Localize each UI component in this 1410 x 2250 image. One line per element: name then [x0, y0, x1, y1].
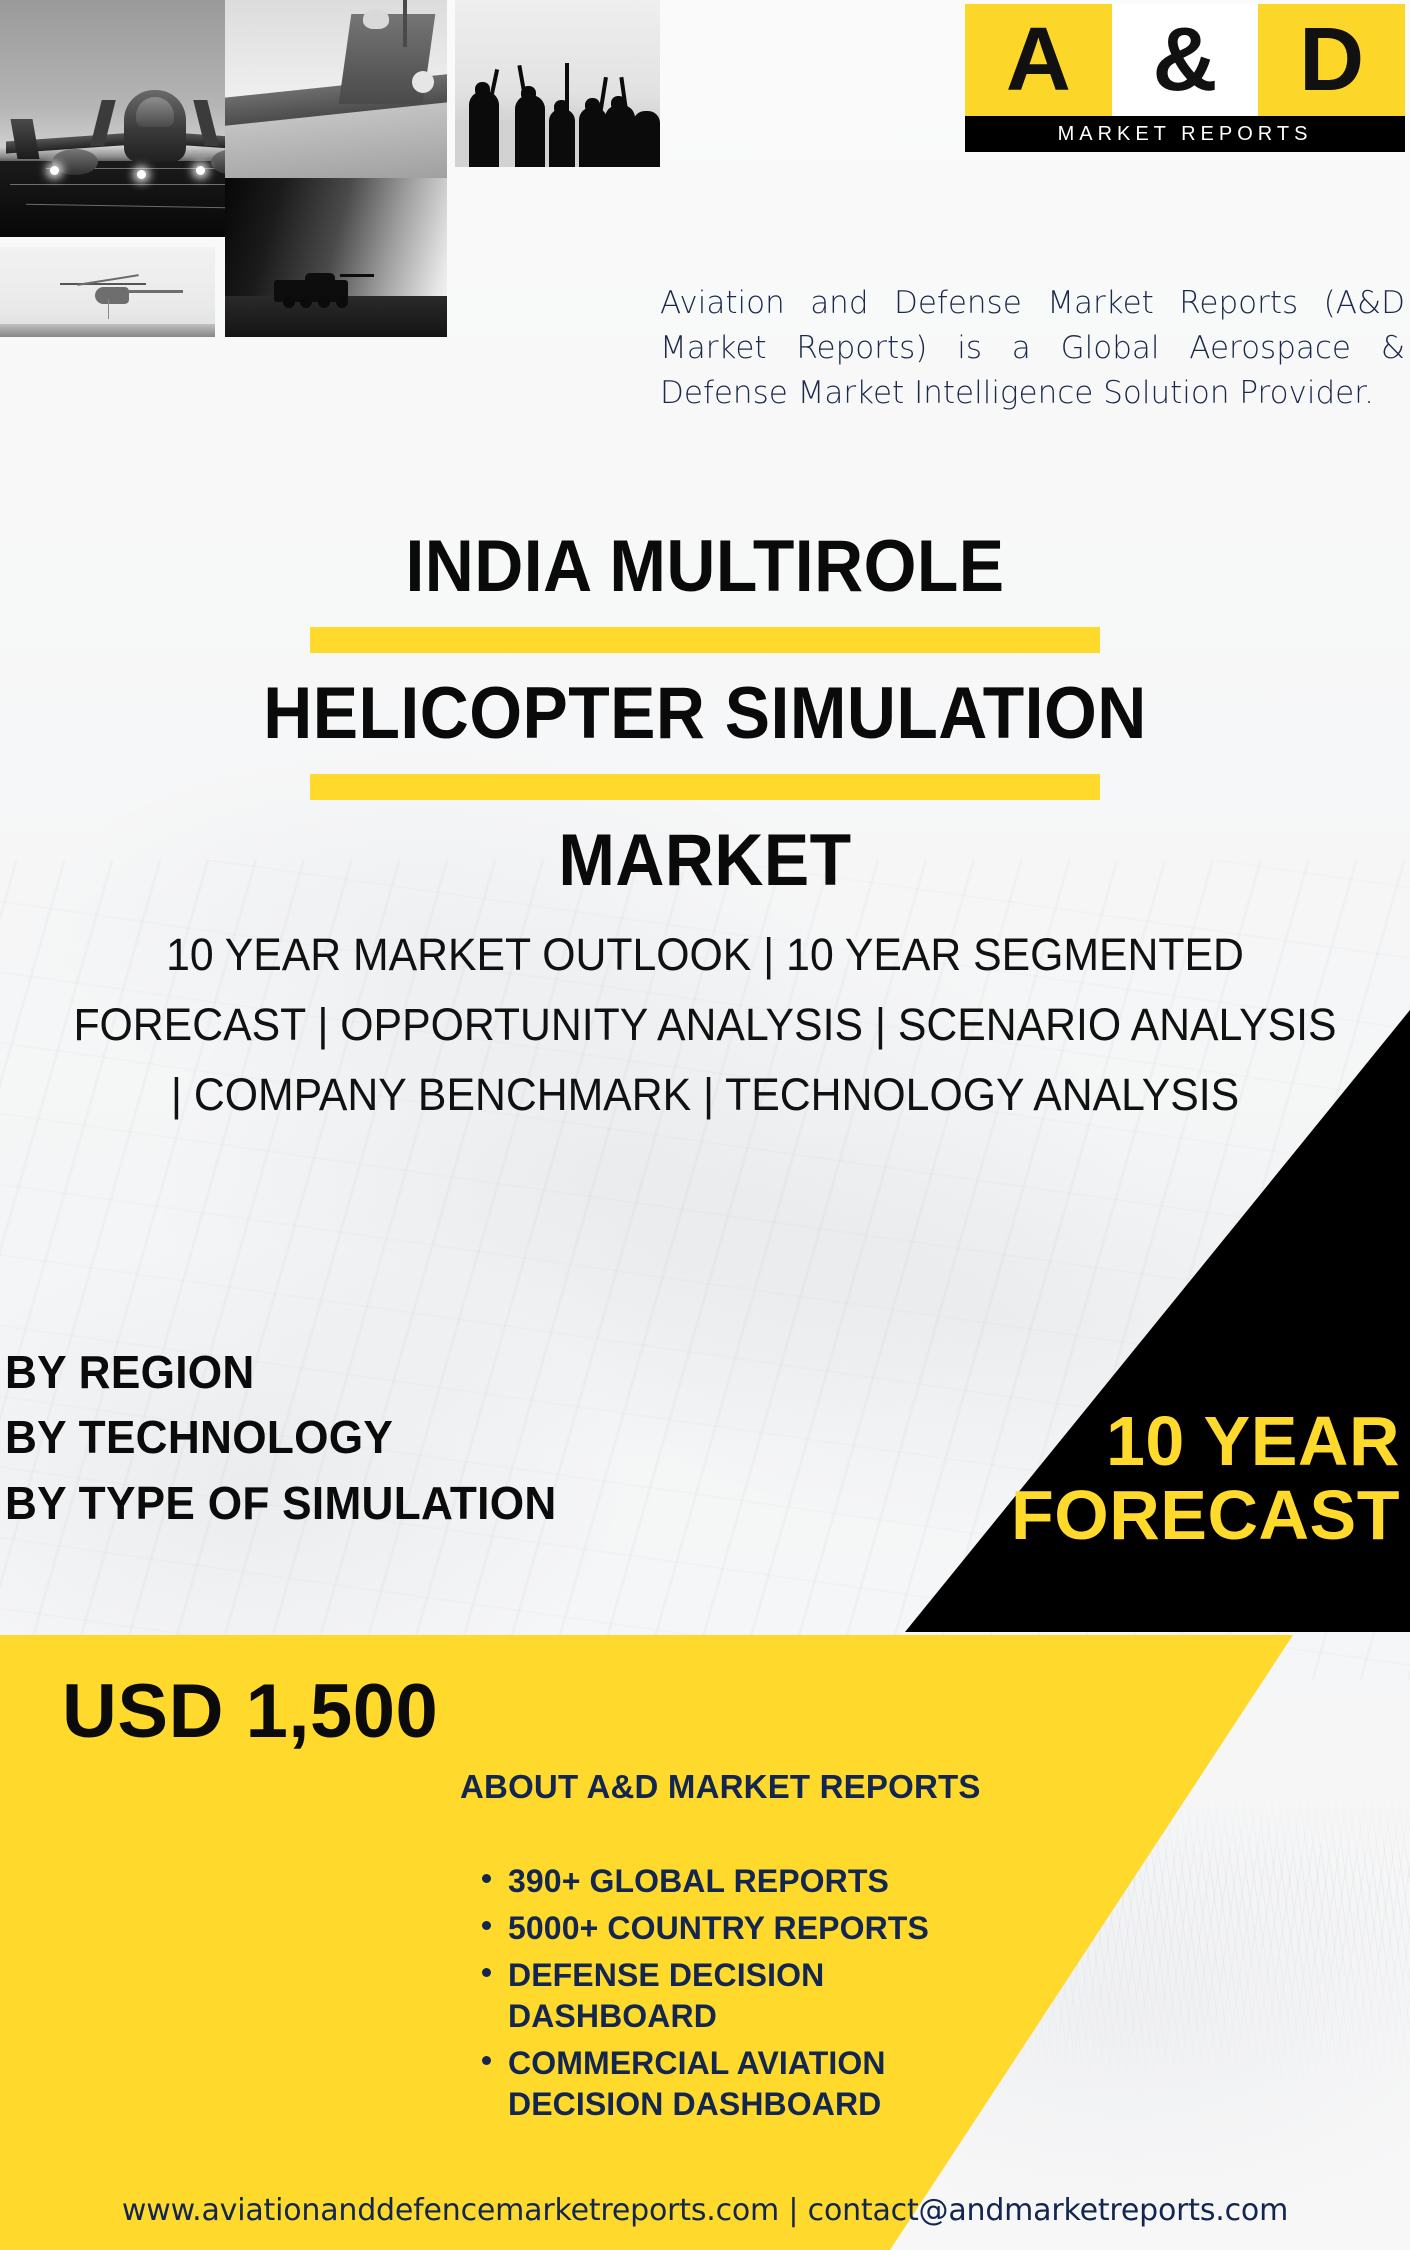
about-bullet-list: 390+ GLOBAL REPORTS 5000+ COUNTRY REPORT… — [460, 1861, 990, 2125]
title-line-1: INDIA MULTIROLE — [49, 530, 1360, 603]
segmentation-list: BY REGION BY TECHNOLOGY BY TYPE OF SIMUL… — [5, 1340, 580, 1536]
bullet-dot-icon — [482, 1921, 491, 1930]
price-value: USD 1,500 — [62, 1668, 438, 1755]
bullet-dot-icon — [482, 1968, 491, 1977]
about-bullet-item: 390+ GLOBAL REPORTS — [508, 1861, 990, 1902]
title-line-3: MARKET — [49, 824, 1360, 897]
about-bullet-item: COMMERCIAL AVIATION DECISION DASHBOARD — [508, 2043, 990, 2125]
logo-letter-a: A — [965, 4, 1112, 116]
logo[interactable]: A & D MARKET REPORTS — [965, 4, 1405, 152]
about-section: ABOUT A&D MARKET REPORTS 390+ GLOBAL REP… — [460, 1768, 990, 2131]
report-subtitle: 10 YEAR MARKET OUTLOOK | 10 YEAR SEGMENT… — [73, 920, 1337, 1129]
about-title-underline — [460, 1812, 980, 1819]
logo-letter-tiles: A & D — [965, 4, 1405, 116]
photo-helicopter-in-flight — [0, 247, 215, 337]
forecast-badge: 10 YEAR FORECAST — [880, 1405, 1400, 1552]
about-title: ABOUT A&D MARKET REPORTS — [460, 1768, 990, 1806]
footer-contact[interactable]: www.aviationanddefencemarketreports.com … — [0, 2193, 1410, 2228]
forecast-line-2: FORECAST — [880, 1479, 1400, 1553]
forecast-line-1: 10 YEAR — [880, 1405, 1400, 1479]
title-line-2: HELICOPTER SIMULATION — [49, 677, 1360, 750]
about-bullet-text: DEFENSE DECISION DASHBOARD — [508, 1957, 824, 2034]
about-bullet-text: 390+ GLOBAL REPORTS — [508, 1863, 889, 1899]
photo-soldiers-silhouette — [455, 0, 660, 167]
segment-item-type: BY TYPE OF SIMULATION — [5, 1471, 557, 1536]
about-bullet-text: COMMERCIAL AVIATION DECISION DASHBOARD — [508, 2045, 886, 2122]
report-title: INDIA MULTIROLE HELICOPTER SIMULATION MA… — [0, 530, 1410, 897]
title-accent-bar-2 — [310, 774, 1100, 800]
segment-item-technology: BY TECHNOLOGY — [5, 1405, 557, 1470]
bullet-dot-icon — [482, 1874, 491, 1883]
title-accent-bar-1 — [310, 627, 1100, 653]
photo-armored-vehicle-at-dusk — [225, 178, 447, 337]
logo-tagline: MARKET REPORTS — [1058, 123, 1313, 146]
logo-letter-ampersand: & — [1112, 4, 1259, 116]
logo-tagline-bar: MARKET REPORTS — [965, 116, 1405, 152]
logo-letter-d: D — [1258, 4, 1405, 116]
about-bullet-text: 5000+ COUNTRY REPORTS — [508, 1910, 929, 1946]
segment-item-region: BY REGION — [5, 1340, 557, 1405]
bullet-dot-icon — [482, 2056, 491, 2065]
about-bullet-item: DEFENSE DECISION DASHBOARD — [508, 1955, 990, 2037]
company-intro-text: Aviation and Defense Market Reports (A&D… — [660, 281, 1405, 416]
report-cover: A & D MARKET REPORTS Aviation and Defens… — [0, 0, 1410, 2250]
about-bullet-item: 5000+ COUNTRY REPORTS — [508, 1908, 990, 1949]
photo-grid — [0, 0, 660, 337]
